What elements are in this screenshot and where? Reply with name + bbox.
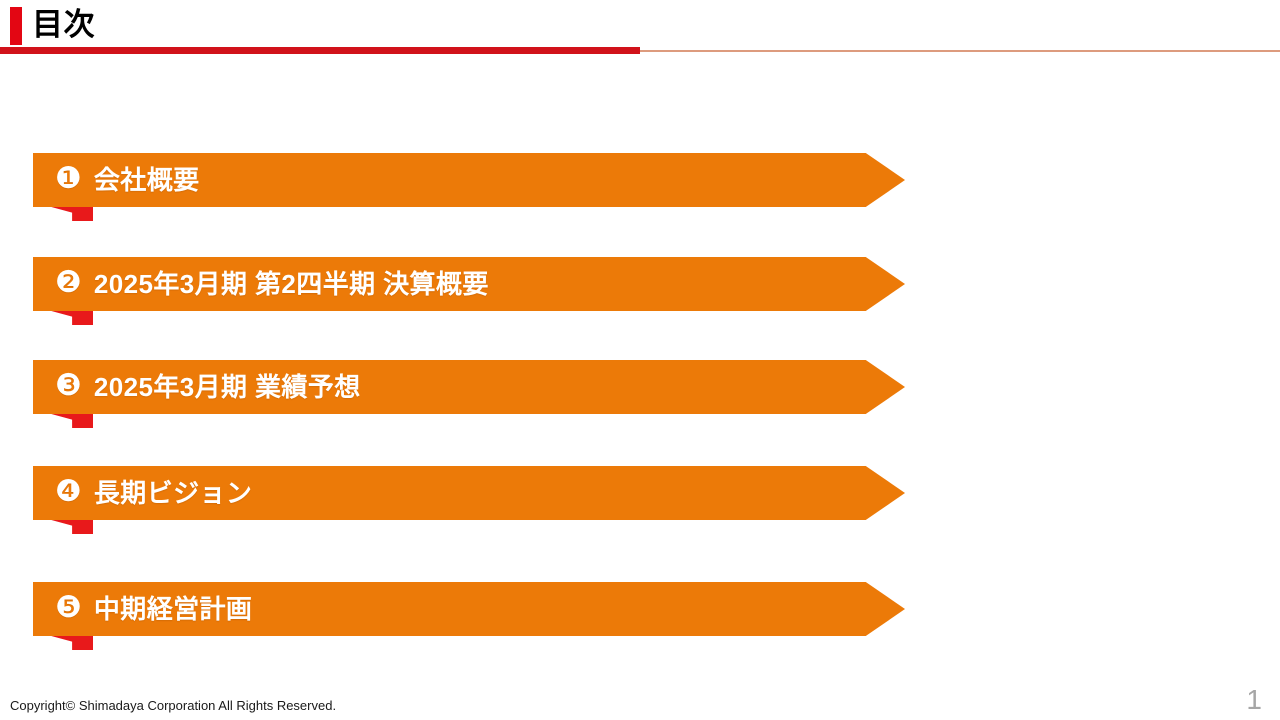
toc-item-label-4: 長期ビジョン <box>94 478 252 508</box>
slide-root: 目次 ❶ 会社概要 ❷ 2025年3月期 第2四半期 決算概要 ❸ 2025年3… <box>0 0 1280 720</box>
circled-number-3-icon: ❸ <box>55 371 82 401</box>
toc-item-2[interactable]: ❷ 2025年3月期 第2四半期 決算概要 <box>33 257 905 311</box>
toc-banner-5[interactable]: ❺ 中期経営計画 <box>33 582 905 636</box>
circled-number-2-icon: ❷ <box>55 268 82 298</box>
toc-item-4[interactable]: ❹ 長期ビジョン <box>33 466 905 520</box>
page-number: 1 <box>1246 684 1262 716</box>
toc-item-label-2: 2025年3月期 第2四半期 決算概要 <box>94 269 489 299</box>
toc-item-1[interactable]: ❶ 会社概要 <box>33 153 905 207</box>
circled-number-5-icon: ❺ <box>55 593 82 623</box>
toc-banner-1[interactable]: ❶ 会社概要 <box>33 153 905 207</box>
toc-item-5[interactable]: ❺ 中期経営計画 <box>33 582 905 636</box>
toc-banner-2[interactable]: ❷ 2025年3月期 第2四半期 決算概要 <box>33 257 905 311</box>
toc-item-label-1: 会社概要 <box>94 165 200 195</box>
toc-banner-4[interactable]: ❹ 長期ビジョン <box>33 466 905 520</box>
footer-copyright: Copyright© Shimadaya Corporation All Rig… <box>10 697 336 715</box>
circled-number-1-icon: ❶ <box>55 164 82 194</box>
toc-item-label-3: 2025年3月期 業績予想 <box>94 372 361 402</box>
toc-banner-3[interactable]: ❸ 2025年3月期 業績予想 <box>33 360 905 414</box>
table-of-contents-list: ❶ 会社概要 ❷ 2025年3月期 第2四半期 決算概要 ❸ 2025年3月期 … <box>0 0 1280 720</box>
toc-item-3[interactable]: ❸ 2025年3月期 業績予想 <box>33 360 905 414</box>
circled-number-4-icon: ❹ <box>55 477 82 507</box>
toc-item-label-5: 中期経営計画 <box>94 594 252 624</box>
